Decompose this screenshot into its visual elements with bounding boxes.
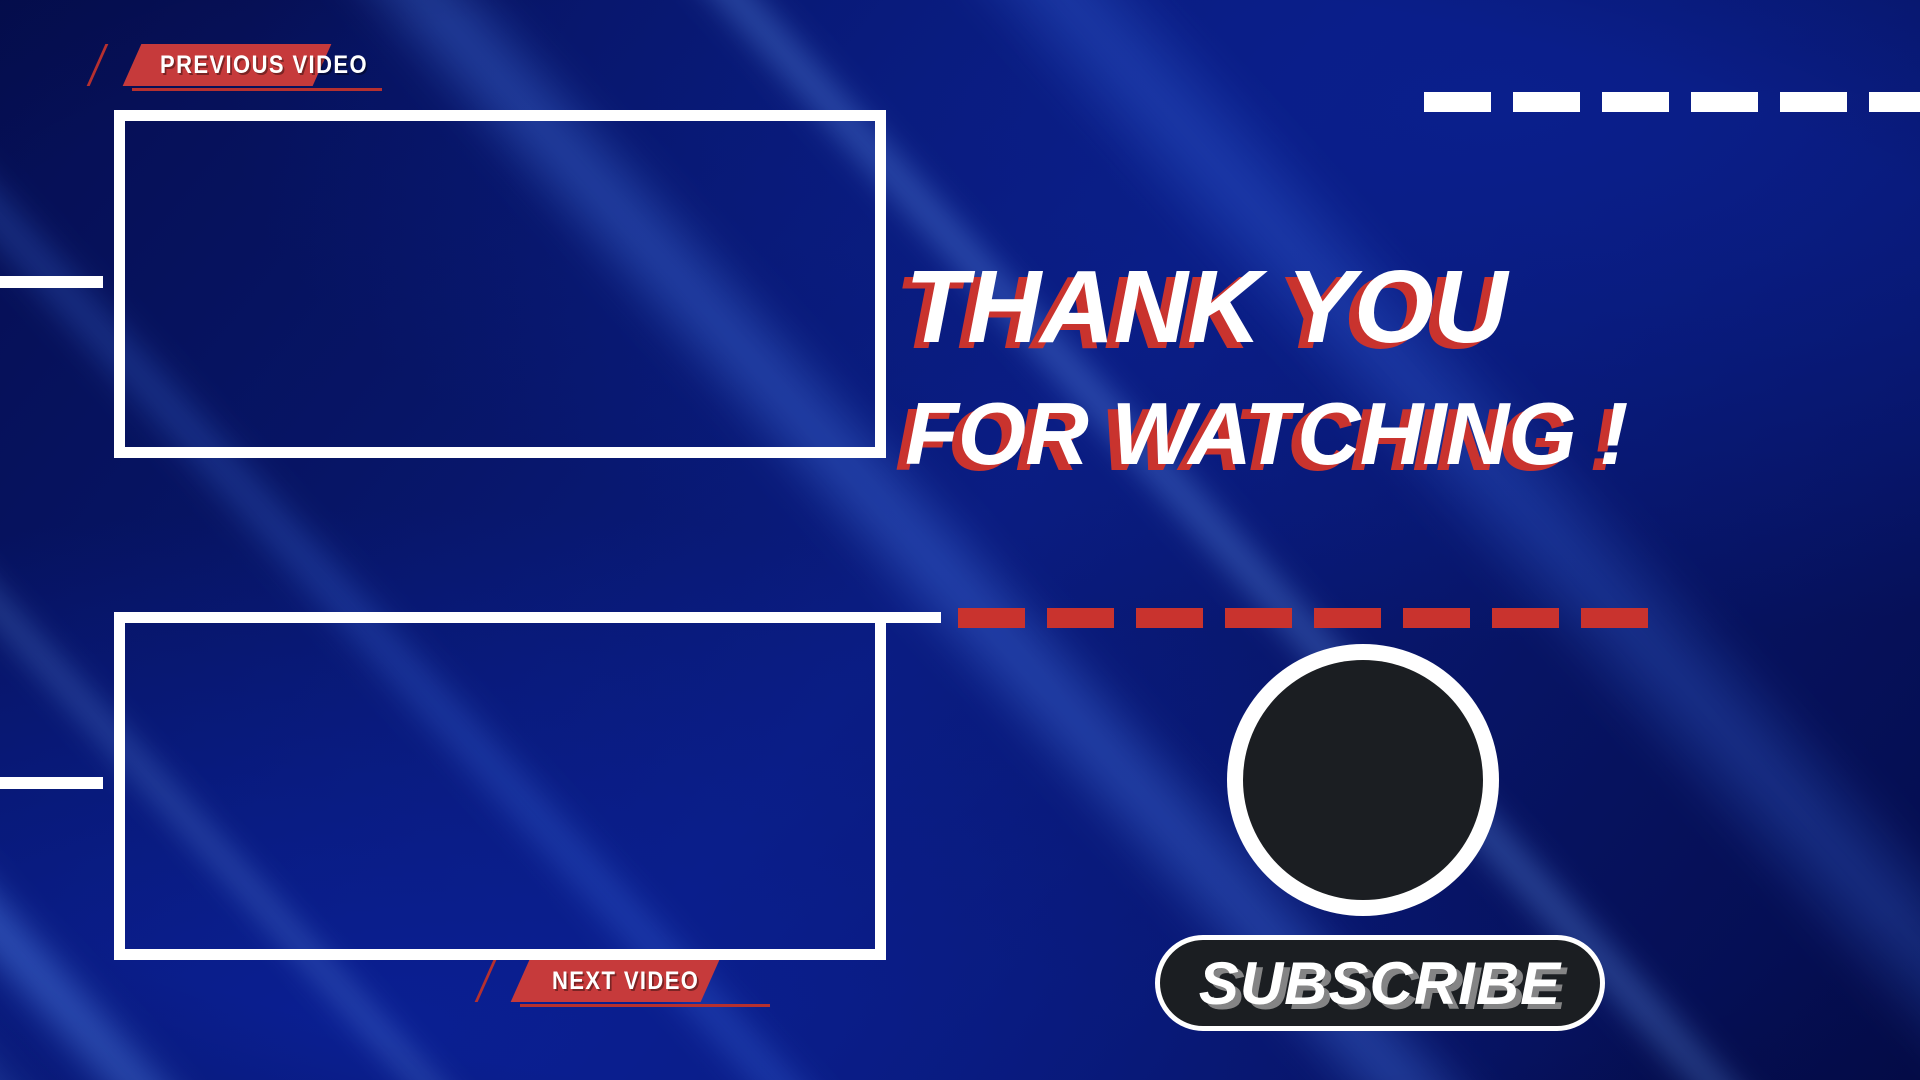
next-video-label: NEXT VIDEO <box>552 960 699 1002</box>
dash-segment <box>1492 608 1559 628</box>
previous-video-thumbnail-slot[interactable] <box>114 110 886 458</box>
dash-segment <box>1602 92 1669 112</box>
frame-tick-top <box>0 276 103 288</box>
dash-segment <box>1136 608 1203 628</box>
dash-segment <box>1047 608 1114 628</box>
next-video-thumbnail-slot[interactable] <box>114 612 886 960</box>
badge-underline <box>132 88 382 91</box>
dash-segment <box>1225 608 1292 628</box>
frame-connector-bar <box>886 612 941 623</box>
white-dashed-divider <box>1424 92 1920 112</box>
end-screen-canvas: PREVIOUS VIDEO NEXT VIDEO THANK YOU FOR … <box>0 0 1920 1080</box>
channel-avatar[interactable] <box>1243 660 1483 900</box>
dash-segment <box>1780 92 1847 112</box>
frame-tick-bottom <box>0 777 103 789</box>
badge-underline <box>520 1004 770 1007</box>
thank-you-headline: THANK YOU FOR WATCHING ! <box>905 255 1905 478</box>
subscribe-label: SUBSCRIBE <box>1199 949 1561 1018</box>
previous-video-label: PREVIOUS VIDEO <box>160 44 368 86</box>
subscribe-button[interactable]: SUBSCRIBE <box>1155 935 1605 1031</box>
dash-segment <box>1869 92 1920 112</box>
dash-segment <box>1581 608 1648 628</box>
dash-segment <box>1314 608 1381 628</box>
dash-segment <box>1691 92 1758 112</box>
dash-segment <box>958 608 1025 628</box>
dash-segment <box>1424 92 1491 112</box>
next-video-badge[interactable]: NEXT VIDEO <box>484 960 724 1002</box>
headline-line-1: THANK YOU <box>905 255 1905 358</box>
red-dashed-divider <box>958 608 1670 628</box>
previous-video-badge[interactable]: PREVIOUS VIDEO <box>96 44 336 86</box>
dash-segment <box>1513 92 1580 112</box>
dash-segment <box>1403 608 1470 628</box>
headline-line-2: FOR WATCHING ! <box>905 390 1905 478</box>
